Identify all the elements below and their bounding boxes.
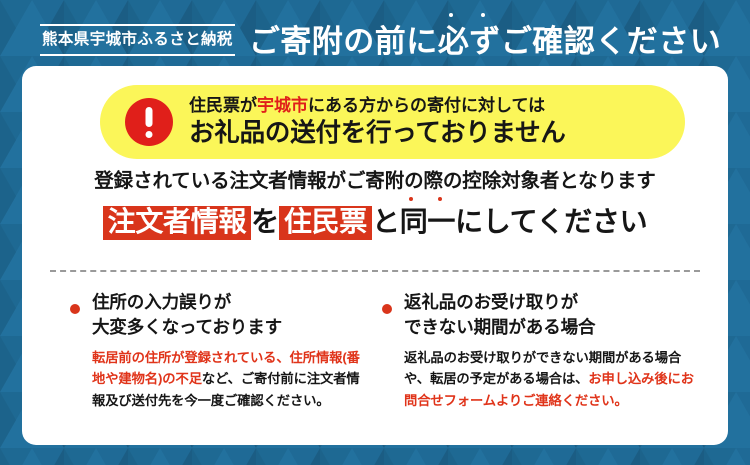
brand-rule-bottom [40, 54, 235, 56]
title-segment-before: ご寄附の前に [249, 24, 438, 59]
dashed-divider [50, 270, 700, 272]
note-heading-line-2: 大変多くなっております [92, 315, 362, 340]
highlight-orderer-info: 注文者情報 [103, 206, 252, 240]
brand-lockup: 熊本県宇城市ふるさと納税 [40, 24, 235, 56]
note-heading-line-1: 返礼品のお受け取りが [404, 290, 702, 315]
highlight-residence-certificate: 住民票 [279, 206, 372, 240]
note-heading-line-2: できない期間がある場合 [404, 315, 702, 340]
note-detail: 転居前の住所が登録されている、住所情報(番地や建物名)の不足など、ご寄付前に注文… [92, 347, 362, 412]
alert-headline: お礼品の送付を行っておりません [189, 121, 566, 147]
title-emphasis-kanarazu: 必ず [438, 26, 501, 57]
alert-subline: 住民票が宇城市にある方からの寄付に対しては [189, 97, 566, 114]
alert-subline-after: にある方からの寄付に対しては [308, 96, 545, 115]
content-card: 住民票が宇城市にある方からの寄付に対しては お礼品の送付を行っておりません 登録… [22, 66, 728, 445]
statement-particle-wo: を [251, 206, 279, 237]
note-heading: 住所の入力誤りが 大変多くなっております [92, 290, 362, 340]
alert-subline-before: 住民票が [189, 96, 257, 115]
promotional-banner: 熊本県宇城市ふるさと納税 ご寄附の前に必ずご確認ください 住民票が宇城市にある方… [0, 0, 750, 465]
statement-line-1: 登録されている注文者情報がご寄附の際の控除対象者となります [22, 172, 728, 192]
statement-line-2: 注文者情報を住民票と同一にしてください [22, 206, 728, 240]
alert-banner: 住民票が宇城市にある方からの寄付に対しては お礼品の送付を行っておりません [100, 85, 685, 159]
statement-block: 登録されている注文者情報がご寄附の際の控除対象者となります 注文者情報を住民票と… [22, 172, 728, 240]
title-segment-after: ご確認ください [501, 24, 722, 59]
alert-text-block: 住民票が宇城市にある方からの寄付に対しては お礼品の送付を行っておりません [189, 97, 566, 147]
bullet-dot-icon [70, 304, 80, 314]
brand-name: 熊本県宇城市ふるさと納税 [40, 26, 235, 54]
page-title: ご寄附の前に必ずご確認ください [249, 26, 722, 57]
note-column-delivery: 返礼品のお受け取りが できない期間がある場合 返礼品のお受け取りができない期間が… [362, 290, 702, 411]
note-heading: 返礼品のお受け取りが できない期間がある場合 [404, 290, 702, 340]
note-heading-line-1: 住所の入力誤りが [92, 290, 362, 315]
note-body: 住所の入力誤りが 大変多くなっております 転居前の住所が登録されている、住所情報… [92, 290, 362, 411]
statement-tail: にしてください [455, 206, 647, 237]
note-detail: 返礼品のお受け取りができない期間がある場合や、転居の予定がある場合は、お申し込み… [404, 347, 702, 412]
alert-city-name: 宇城市 [257, 96, 308, 115]
note-body: 返礼品のお受け取りが できない期間がある場合 返礼品のお受け取りができない期間が… [404, 290, 702, 411]
bullet-dot-icon [382, 304, 392, 314]
exclamation-icon [125, 98, 173, 146]
statement-emphasis-douitsu: 同一 [400, 208, 455, 236]
note-column-address: 住所の入力誤りが 大変多くなっております 転居前の住所が登録されている、住所情報… [22, 290, 362, 411]
notes-columns: 住所の入力誤りが 大変多くなっております 転居前の住所が登録されている、住所情報… [22, 290, 728, 411]
statement-particle-to: と [372, 206, 400, 237]
